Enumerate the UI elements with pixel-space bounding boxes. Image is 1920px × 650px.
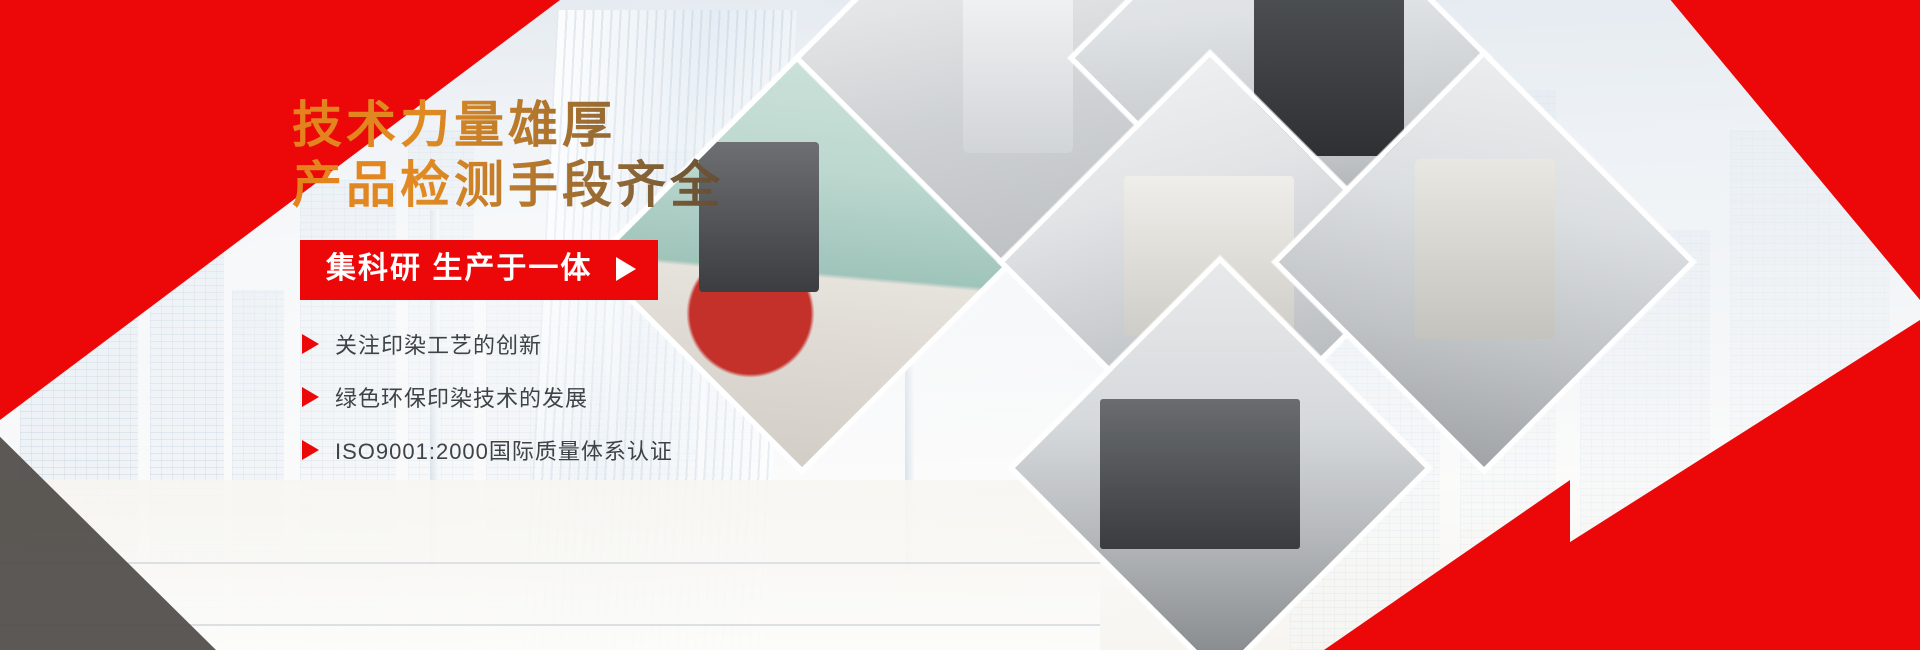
play-triangle-icon [616, 257, 636, 281]
banner-copy: 技术力量雄厚 产品检测手段齐全 集科研 生产于一体 关注印染工艺的创新 绿色环保… [292, 96, 912, 487]
bullet-text: 绿色环保印染技术的发展 [335, 381, 588, 413]
cta-button[interactable]: 集科研 生产于一体 [300, 240, 658, 300]
promo-banner: 技术力量雄厚 产品检测手段齐全 集科研 生产于一体 关注印染工艺的创新 绿色环保… [0, 0, 1920, 650]
bullet-text: 关注印染工艺的创新 [335, 328, 542, 360]
triangle-bullet-icon [302, 387, 319, 407]
triangle-bullet-icon [302, 440, 319, 460]
bullet-text: ISO9001:2000国际质量体系认证 [335, 434, 673, 466]
cta-button-label: 集科研 生产于一体 [326, 251, 592, 287]
triangle-bullet-icon [302, 334, 319, 354]
headline-line-2: 产品检测手段齐全 [292, 156, 912, 214]
list-item: 关注印染工艺的创新 [302, 328, 912, 360]
headline-line-1: 技术力量雄厚 [292, 96, 912, 154]
feature-bullet-list: 关注印染工艺的创新 绿色环保印染技术的发展 ISO9001:2000国际质量体系… [302, 328, 912, 466]
list-item: ISO9001:2000国际质量体系认证 [302, 434, 912, 466]
list-item: 绿色环保印染技术的发展 [302, 381, 912, 413]
